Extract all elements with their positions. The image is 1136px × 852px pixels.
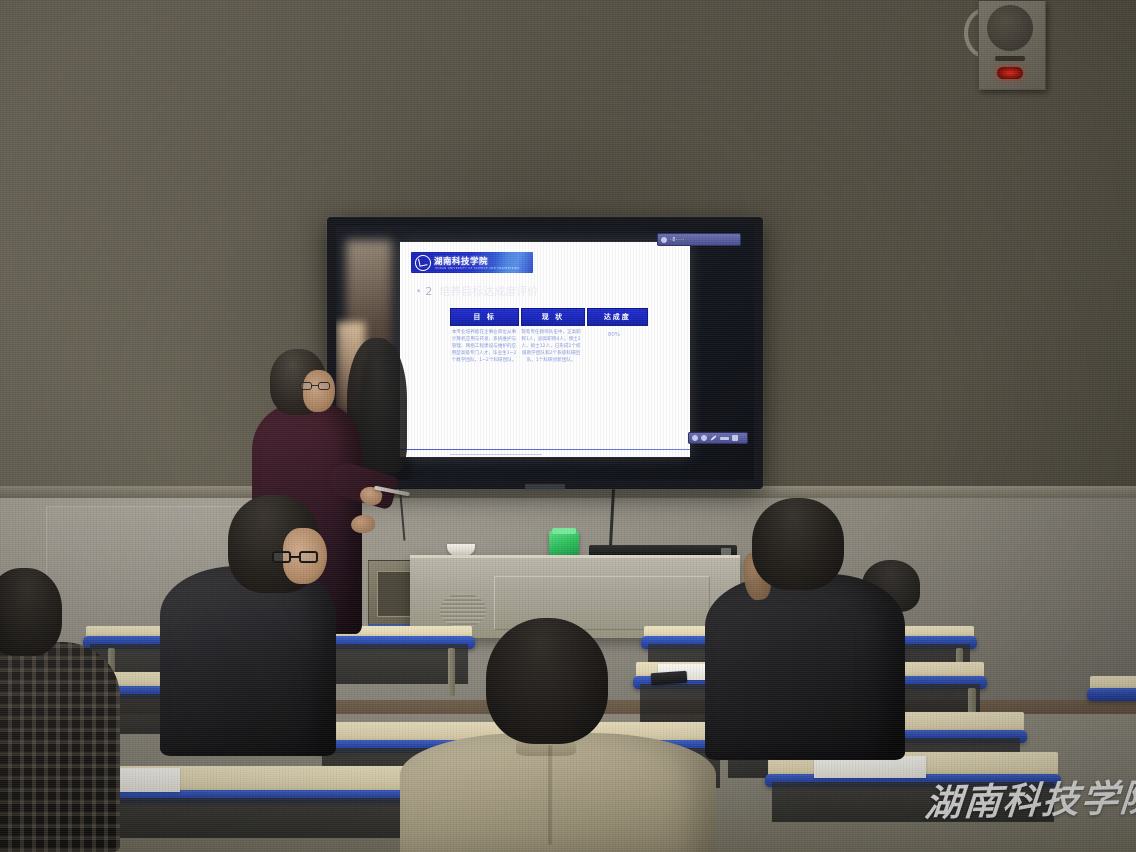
power-led-indicator: [997, 67, 1023, 79]
table-row: 本专业培养能在企事业单位从事计算机应用与开发、系统维护与管理、网络工程建设与维护…: [450, 329, 648, 365]
presentation-toolbar-bottom[interactable]: [688, 432, 748, 444]
bullet-text: 培养目标达成度评价: [439, 285, 538, 298]
table-bottom-rule: [450, 454, 542, 455]
presenter-glasses-icon: [300, 382, 334, 390]
toolbar-top-label: ·8····: [670, 237, 685, 243]
university-logo-icon: [415, 255, 431, 271]
table-cell-target: 本专业培养能在企事业单位从事计算机应用与开发、系统维护与管理、网络工程建设与维护…: [450, 329, 518, 365]
speaker-grill-icon: [987, 5, 1033, 51]
glasses-lens-left: [300, 382, 312, 390]
pen-icon[interactable]: [710, 435, 717, 441]
glasses-lens-right: [299, 551, 318, 563]
glasses-lens-right: [318, 382, 330, 390]
attendee-glasses-icon: [272, 551, 324, 563]
desk-edge-trim: [1087, 688, 1136, 701]
powerpoint-slide[interactable]: 湖南科技学院 HUNAN UNIVERSITY OF SCIENCE AND E…: [400, 242, 690, 457]
table-header-status: 现 状: [521, 308, 584, 326]
attendee-far-left-torso: [0, 642, 120, 852]
glasses-lens-left: [272, 551, 291, 563]
presentation-toolbar-top[interactable]: ·8····: [657, 233, 741, 246]
menu-icon[interactable]: [732, 435, 738, 441]
attendee-far-left-head: [0, 568, 62, 656]
green-box: [549, 531, 579, 555]
slide-header-banner: 湖南科技学院 HUNAN UNIVERSITY OF SCIENCE AND E…: [411, 252, 533, 273]
table-cell-achievement: 80%: [584, 329, 644, 365]
bell-icon[interactable]: [661, 237, 667, 243]
banner-subtitle: HUNAN UNIVERSITY OF SCIENCE AND ENGINEER…: [435, 267, 520, 270]
desk-apron: [772, 782, 1054, 822]
attendee-right-torso: [705, 574, 905, 760]
table-cell-status: 现有专任教师队伍中，正高职称1人，副高职称4人，博士2人，硕士12人，已形成1个…: [520, 329, 582, 365]
desk-edge-far-right: [1090, 676, 1136, 692]
speaker-slot: [995, 56, 1025, 61]
slide-icon[interactable]: [720, 437, 729, 440]
achievement-table: 目 标 现 状 达成度 本专业培养能在企事业单位从事计算机应用与开发、系统维护与…: [450, 308, 648, 365]
smartphone-on-desk[interactable]: [651, 671, 688, 685]
presenter-face: [303, 370, 335, 412]
cart-shelf: [377, 571, 413, 617]
banner-title: 湖南科技学院: [434, 258, 488, 267]
nav-next-icon[interactable]: [701, 435, 707, 441]
table-header-target: 目 标: [450, 308, 519, 326]
podium-vent-icon: [440, 593, 486, 627]
table-header-row: 目 标 现 状 达成度: [450, 308, 648, 326]
attendee-front-center-head: [486, 618, 608, 744]
glasses-bridge: [291, 556, 299, 558]
slide-bullet-line: •2 培养目标达成度评价: [416, 286, 538, 297]
bullet-marker: •: [416, 287, 421, 297]
slide-footer-rule: [400, 449, 690, 451]
desk-leg: [448, 648, 455, 696]
jacket-seam: [548, 745, 552, 845]
display-brand-plate: [525, 484, 565, 490]
nav-prev-icon[interactable]: [692, 435, 698, 441]
table-header-achievement: 达成度: [587, 308, 648, 326]
bullet-number: 2: [425, 285, 432, 298]
attendee-right-head: [752, 498, 844, 590]
classroom-photo-scene: 湖南科技学院 HUNAN UNIVERSITY OF SCIENCE AND E…: [0, 0, 1136, 852]
wall-speaker-intercom[interactable]: [978, 0, 1046, 90]
attendee-front-left-torso: [160, 566, 336, 756]
